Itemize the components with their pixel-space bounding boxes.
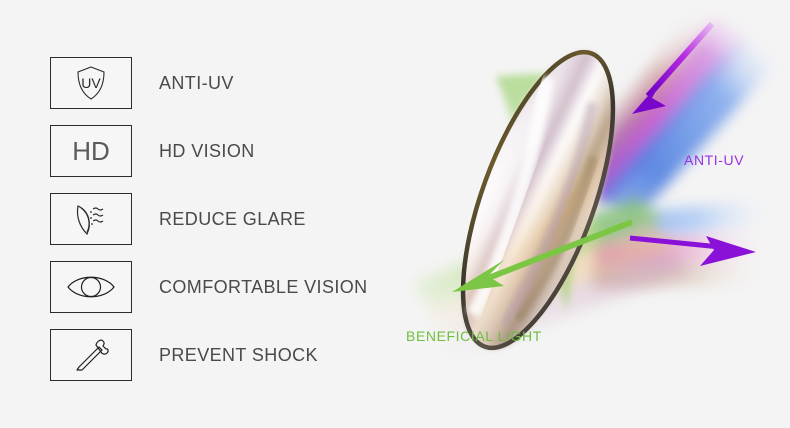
hammer-icon <box>50 329 132 381</box>
uv-shield-icon: UV <box>50 57 132 109</box>
uv-icon-text: UV <box>81 75 101 91</box>
glare-deflect-icon <box>50 193 132 245</box>
feature-label-reduce-glare: REDUCE GLARE <box>159 209 306 230</box>
feature-label-hd-vision: HD VISION <box>159 141 255 162</box>
feature-label-comfortable-vision: COMFORTABLE VISION <box>159 277 368 298</box>
product-feature-panel: UV ANTI-UV HD HD VISION <box>0 0 790 428</box>
feature-row-prevent-shock[interactable]: PREVENT SHOCK <box>50 329 430 381</box>
feature-row-comfortable-vision[interactable]: COMFORTABLE VISION <box>50 261 430 313</box>
feature-list: UV ANTI-UV HD HD VISION <box>50 57 430 397</box>
feature-label-anti-uv: ANTI-UV <box>159 73 234 94</box>
hd-icon-text: HD <box>72 136 110 166</box>
anti-uv-beam-label: ANTI-UV <box>684 152 744 168</box>
beneficial-light-beam-label: BENEFICIAL LIGHT <box>406 328 542 344</box>
feature-row-hd-vision[interactable]: HD HD VISION <box>50 125 430 177</box>
feature-row-reduce-glare[interactable]: REDUCE GLARE <box>50 193 430 245</box>
feature-row-anti-uv[interactable]: UV ANTI-UV <box>50 57 430 109</box>
eye-icon <box>50 261 132 313</box>
feature-label-prevent-shock: PREVENT SHOCK <box>159 345 318 366</box>
hd-text-icon: HD <box>50 125 132 177</box>
